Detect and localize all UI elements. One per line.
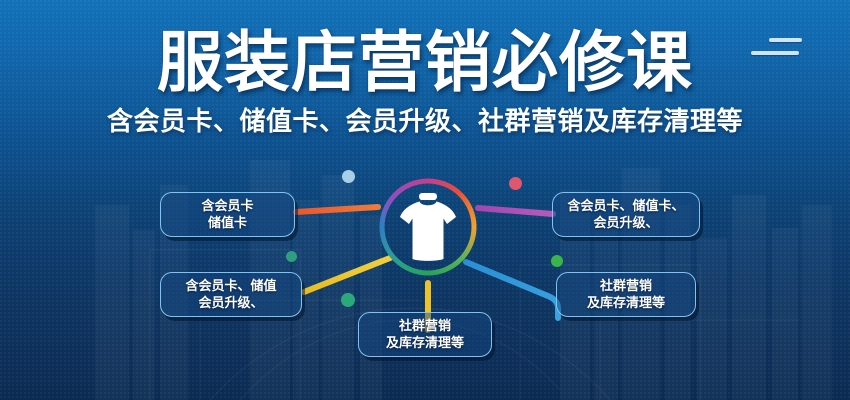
node-left-bottom[interactable]: 含会员卡、储值 会员升级、	[160, 272, 302, 317]
node-right-top-line1: 含会员卡、储值卡、	[567, 198, 684, 215]
dot-light-blue-icon	[342, 170, 355, 183]
node-left-top[interactable]: 含会员卡 储值卡	[160, 192, 295, 237]
dot-pink-icon	[509, 177, 522, 190]
node-right-top-line2: 会员升级、	[593, 215, 658, 232]
equals-mark-icon	[751, 38, 802, 55]
node-left-bottom-line1: 含会员卡、储值	[185, 278, 276, 295]
banner-heading-group: 服装店营销必修课 含会员卡、储值卡、会员升级、社群营销及库存清理等	[0, 26, 850, 138]
node-bottom-center-line2: 及库存清理等	[386, 335, 464, 352]
node-bottom-center[interactable]: 社群营销 及库存清理等	[358, 312, 492, 357]
page-title: 服装店营销必修课	[0, 26, 850, 100]
node-right-bottom-line1: 社群营销	[600, 278, 652, 295]
connector-left-top	[296, 207, 378, 212]
node-bottom-center-line1: 社群营销	[399, 318, 451, 335]
connector-right-top	[478, 208, 553, 214]
center-hub	[373, 172, 483, 282]
node-left-bottom-line2: 会员升级、	[198, 295, 263, 312]
node-right-top[interactable]: 含会员卡、储值卡、 会员升级、	[552, 192, 700, 237]
dot-teal-icon	[286, 251, 297, 262]
marketing-banner: 服装店营销必修课 含会员卡、储值卡、会员升级、社群营销及库存清理等	[0, 0, 850, 400]
dot-green-right-icon	[551, 255, 563, 267]
node-right-bottom[interactable]: 社群营销 及库存清理等	[556, 272, 696, 317]
node-left-top-line2: 储值卡	[208, 215, 247, 232]
shirt-icon	[397, 191, 459, 263]
node-left-top-line1: 含会员卡	[201, 198, 253, 215]
dot-green-bottom-icon	[341, 293, 355, 307]
node-right-bottom-line2: 及库存清理等	[587, 295, 665, 312]
page-subtitle: 含会员卡、储值卡、会员升级、社群营销及库存清理等	[0, 106, 850, 138]
